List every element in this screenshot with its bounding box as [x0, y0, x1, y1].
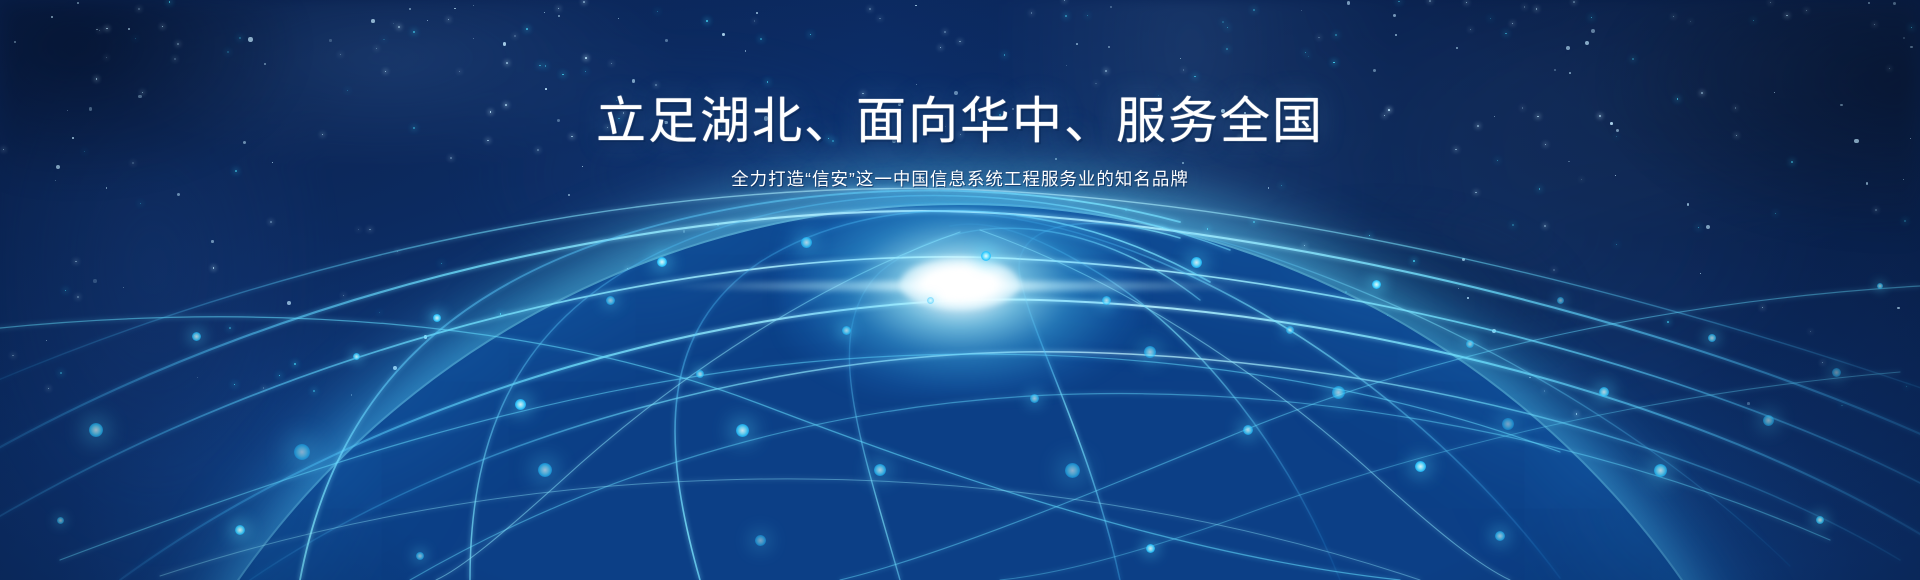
banner-subheadline: 全力打造“信安”这一中国信息系统工程服务业的知名品牌: [0, 166, 1920, 192]
hero-banner: 立足湖北、面向华中、服务全国 全力打造“信安”这一中国信息系统工程服务业的知名品…: [0, 0, 1920, 580]
banner-copy: 立足湖北、面向华中、服务全国 全力打造“信安”这一中国信息系统工程服务业的知名品…: [0, 0, 1920, 192]
banner-headline: 立足湖北、面向华中、服务全国: [0, 0, 1920, 154]
center-flare-core: [900, 258, 1020, 310]
